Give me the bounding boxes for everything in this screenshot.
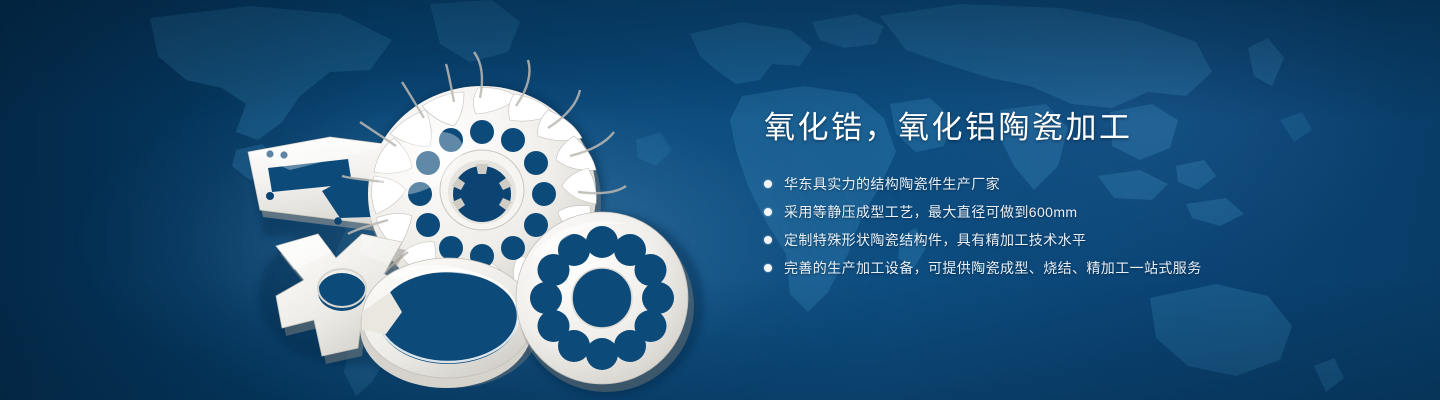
bullet-dot-icon (764, 208, 772, 216)
banner-headline: 氧化锆，氧化铝陶瓷加工 (764, 108, 1384, 148)
bullet-dot-icon (764, 180, 772, 188)
feature-text: 定制特殊形状陶瓷结构件，具有精加工技术水平 (784, 228, 1086, 252)
list-item: 定制特殊形状陶瓷结构件，具有精加工技术水平 (764, 228, 1384, 252)
feature-text: 华东具实力的结构陶瓷件生产厂家 (784, 172, 1000, 196)
feature-text: 完善的生产加工设备，可提供陶瓷成型、烧结、精加工一站式服务 (784, 256, 1202, 280)
banner-copy: 氧化锆，氧化铝陶瓷加工 华东具实力的结构陶瓷件生产厂家 采用等静压成型工艺，最大… (764, 108, 1384, 284)
feature-text: 采用等静压成型工艺，最大直径可做到600mm (784, 200, 1077, 224)
feature-list: 华东具实力的结构陶瓷件生产厂家 采用等静压成型工艺，最大直径可做到600mm 定… (764, 172, 1384, 280)
list-item: 华东具实力的结构陶瓷件生产厂家 (764, 172, 1384, 196)
list-item: 完善的生产加工设备，可提供陶瓷成型、烧结、精加工一站式服务 (764, 256, 1384, 280)
bullet-dot-icon (764, 236, 772, 244)
product-photo-cluster (230, 36, 700, 384)
bullet-dot-icon (764, 264, 772, 272)
hero-banner: 氧化锆，氧化铝陶瓷加工 华东具实力的结构陶瓷件生产厂家 采用等静压成型工艺，最大… (0, 0, 1440, 400)
list-item: 采用等静压成型工艺，最大直径可做到600mm (764, 200, 1384, 224)
